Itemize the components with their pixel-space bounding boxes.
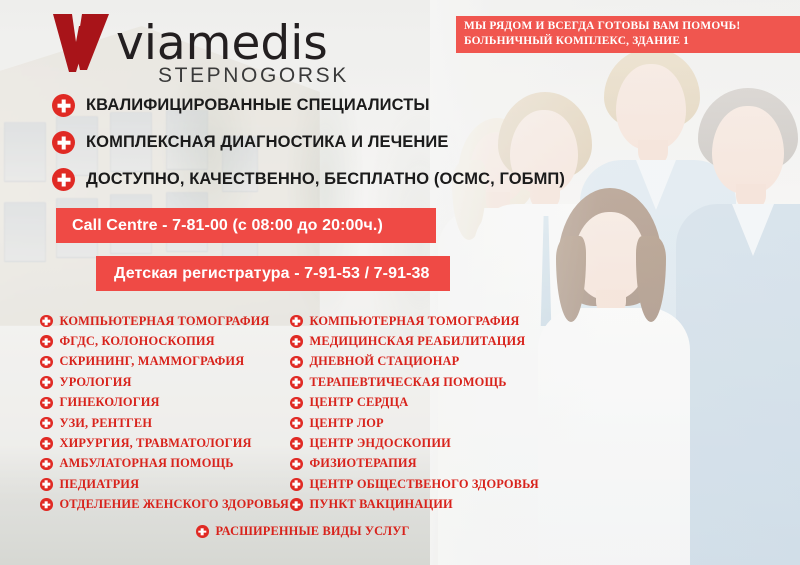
medical-cross-icon bbox=[52, 131, 75, 154]
service-label: КОМПЬЮТЕРНАЯ ТОМОГРАФИЯ bbox=[310, 314, 520, 329]
medical-cross-icon bbox=[40, 356, 53, 369]
service-item[interactable]: УРОЛОГИЯ bbox=[40, 372, 289, 392]
service-item[interactable]: МЕДИЦИНСКАЯ РЕАБИЛИТАЦИЯ bbox=[290, 331, 539, 351]
childrens-registry-phone-label: Детская регистратура - 7-91-53 / 7-91-38 bbox=[114, 265, 430, 283]
service-item[interactable]: КОМПЬЮТЕРНАЯ ТОМОГРАФИЯ bbox=[40, 311, 289, 331]
service-label: ДНЕВНОЙ СТАЦИОНАР bbox=[310, 354, 460, 369]
service-item[interactable]: ЦЕНТР ЛОР bbox=[290, 413, 539, 433]
service-label: СКРИНИНГ, МАММОГРАФИЯ bbox=[60, 354, 245, 369]
medical-cross-icon bbox=[40, 498, 53, 511]
medical-cross-icon bbox=[52, 168, 75, 191]
medical-cross-icon bbox=[290, 417, 303, 430]
headline-label: КОМПЛЕКСНАЯ ДИАГНОСТИКА И ЛЕЧЕНИЕ bbox=[86, 133, 449, 152]
medical-cross-icon bbox=[290, 376, 303, 389]
clinic-advertisement-poster: viamedis STEPNOGORSK МЫ РЯДОМ И ВСЕГДА Г… bbox=[0, 0, 800, 565]
service-item[interactable]: ЦЕНТР СЕРДЦА bbox=[290, 393, 539, 413]
headline-label: ДОСТУПНО, КАЧЕСТВЕННО, БЕСПЛАТНО (ОСМС, … bbox=[86, 170, 565, 189]
service-label: ПЕДИАТРИЯ bbox=[60, 477, 140, 492]
logo-wordmark: viamedis bbox=[116, 16, 328, 71]
medical-cross-icon bbox=[290, 356, 303, 369]
extended-services-item[interactable]: РАСШИРЕННЫЕ ВИДЫ УСЛУГ bbox=[196, 524, 410, 539]
medical-cross-icon bbox=[52, 94, 75, 117]
service-label: ЦЕНТР ЭНДОСКОПИИ bbox=[310, 436, 451, 451]
service-label: ТЕРАПЕВТИЧЕСКАЯ ПОМОЩЬ bbox=[310, 375, 507, 390]
service-item[interactable]: ФИЗИОТЕРАПИЯ bbox=[290, 454, 539, 474]
call-centre-phone-banner[interactable]: Call Centre - 7-81-00 (с 08:00 до 20:00ч… bbox=[56, 208, 436, 243]
medical-cross-icon bbox=[40, 397, 53, 410]
medical-cross-icon bbox=[196, 525, 209, 538]
service-item[interactable]: ОТДЕЛЕНИЕ ЖЕНСКОГО ЗДОРОВЬЯ bbox=[40, 495, 289, 515]
service-item[interactable]: СКРИНИНГ, МАММОГРАФИЯ bbox=[40, 352, 289, 372]
service-label: АМБУЛАТОРНАЯ ПОМОЩЬ bbox=[60, 456, 234, 471]
headline-label: КВАЛИФИЦИРОВАННЫЕ СПЕЦИАЛИСТЫ bbox=[86, 96, 430, 115]
medical-cross-icon bbox=[40, 335, 53, 348]
headline-item-affordable-free: ДОСТУПНО, КАЧЕСТВЕННО, БЕСПЛАТНО (ОСМС, … bbox=[52, 168, 565, 191]
service-label: УРОЛОГИЯ bbox=[60, 375, 132, 390]
medical-cross-icon bbox=[40, 315, 53, 328]
service-label: ОТДЕЛЕНИЕ ЖЕНСКОГО ЗДОРОВЬЯ bbox=[60, 497, 289, 512]
services-column-right: КОМПЬЮТЕРНАЯ ТОМОГРАФИЯ МЕДИЦИНСКАЯ РЕАБ… bbox=[290, 311, 539, 515]
service-label: МЕДИЦИНСКАЯ РЕАБИЛИТАЦИЯ bbox=[310, 334, 526, 349]
service-label: ЦЕНТР СЕРДЦА bbox=[310, 395, 409, 410]
service-item[interactable]: ХИРУРГИЯ, ТРАВМАТОЛОГИЯ bbox=[40, 433, 289, 453]
medical-cross-icon bbox=[290, 437, 303, 450]
service-label: ФГДС, КОЛОНОСКОПИЯ bbox=[60, 334, 215, 349]
medical-cross-icon bbox=[40, 437, 53, 450]
service-item[interactable]: КОМПЬЮТЕРНАЯ ТОМОГРАФИЯ bbox=[290, 311, 539, 331]
service-label: ЦЕНТР ЛОР bbox=[310, 416, 384, 431]
service-item[interactable]: ПЕДИАТРИЯ bbox=[40, 474, 289, 494]
medical-cross-icon bbox=[40, 478, 53, 491]
service-label: УЗИ, РЕНТГЕН bbox=[60, 416, 153, 431]
service-label: ФИЗИОТЕРАПИЯ bbox=[310, 456, 417, 471]
medical-cross-icon bbox=[290, 498, 303, 511]
logo-city-label: STEPNOGORSK bbox=[158, 64, 349, 88]
service-item[interactable]: ЦЕНТР ОБЩЕСТВЕНОГО ЗДОРОВЬЯ bbox=[290, 474, 539, 494]
service-item[interactable]: ФГДС, КОЛОНОСКОПИЯ bbox=[40, 331, 289, 351]
service-item[interactable]: ТЕРАПЕВТИЧЕСКАЯ ПОМОЩЬ bbox=[290, 372, 539, 392]
medical-cross-icon bbox=[290, 397, 303, 410]
service-item[interactable]: ЦЕНТР ЭНДОСКОПИИ bbox=[290, 433, 539, 453]
service-label: ПУНКТ ВАКЦИНАЦИИ bbox=[310, 497, 453, 512]
service-label: ГИНЕКОЛОГИЯ bbox=[60, 395, 160, 410]
service-item[interactable]: ГИНЕКОЛОГИЯ bbox=[40, 393, 289, 413]
medical-cross-icon bbox=[290, 458, 303, 471]
medical-cross-icon bbox=[290, 315, 303, 328]
service-item[interactable]: ДНЕВНОЙ СТАЦИОНАР bbox=[290, 352, 539, 372]
childrens-registry-phone-banner[interactable]: Детская регистратура - 7-91-53 / 7-91-38 bbox=[96, 256, 450, 291]
headline-item-complex-diagnostics: КОМПЛЕКСНАЯ ДИАГНОСТИКА И ЛЕЧЕНИЕ bbox=[52, 131, 449, 154]
service-item[interactable]: АМБУЛАТОРНАЯ ПОМОЩЬ bbox=[40, 454, 289, 474]
medical-cross-icon bbox=[40, 417, 53, 430]
headline-item-qualified-specialists: КВАЛИФИЦИРОВАННЫЕ СПЕЦИАЛИСТЫ bbox=[52, 94, 430, 117]
tagline-line-1: МЫ РЯДОМ И ВСЕГДА ГОТОВЫ ВАМ ПОМОЧЬ! bbox=[464, 19, 800, 34]
extended-services-label: РАСШИРЕННЫЕ ВИДЫ УСЛУГ bbox=[216, 524, 410, 539]
medical-cross-icon bbox=[40, 376, 53, 389]
viamedis-v-mark-icon bbox=[52, 12, 110, 76]
call-centre-phone-label: Call Centre - 7-81-00 (с 08:00 до 20:00ч… bbox=[72, 217, 383, 235]
service-label: ЦЕНТР ОБЩЕСТВЕНОГО ЗДОРОВЬЯ bbox=[310, 477, 539, 492]
tagline-line-2: БОЛЬНИЧНЫЙ КОМПЛЕКС, ЗДАНИЕ 1 bbox=[464, 34, 800, 49]
service-label: ХИРУРГИЯ, ТРАВМАТОЛОГИЯ bbox=[60, 436, 252, 451]
medical-cross-icon bbox=[40, 458, 53, 471]
service-label: КОМПЬЮТЕРНАЯ ТОМОГРАФИЯ bbox=[60, 314, 270, 329]
service-item[interactable]: ПУНКТ ВАКЦИНАЦИИ bbox=[290, 495, 539, 515]
medical-cross-icon bbox=[290, 478, 303, 491]
top-tagline-banner: МЫ РЯДОМ И ВСЕГДА ГОТОВЫ ВАМ ПОМОЧЬ! БОЛ… bbox=[456, 16, 800, 53]
medical-cross-icon bbox=[290, 335, 303, 348]
services-column-left: КОМПЬЮТЕРНАЯ ТОМОГРАФИЯ ФГДС, КОЛОНОСКОП… bbox=[40, 311, 289, 515]
brand-logo: viamedis STEPNOGORSK bbox=[46, 8, 346, 84]
service-item[interactable]: УЗИ, РЕНТГЕН bbox=[40, 413, 289, 433]
